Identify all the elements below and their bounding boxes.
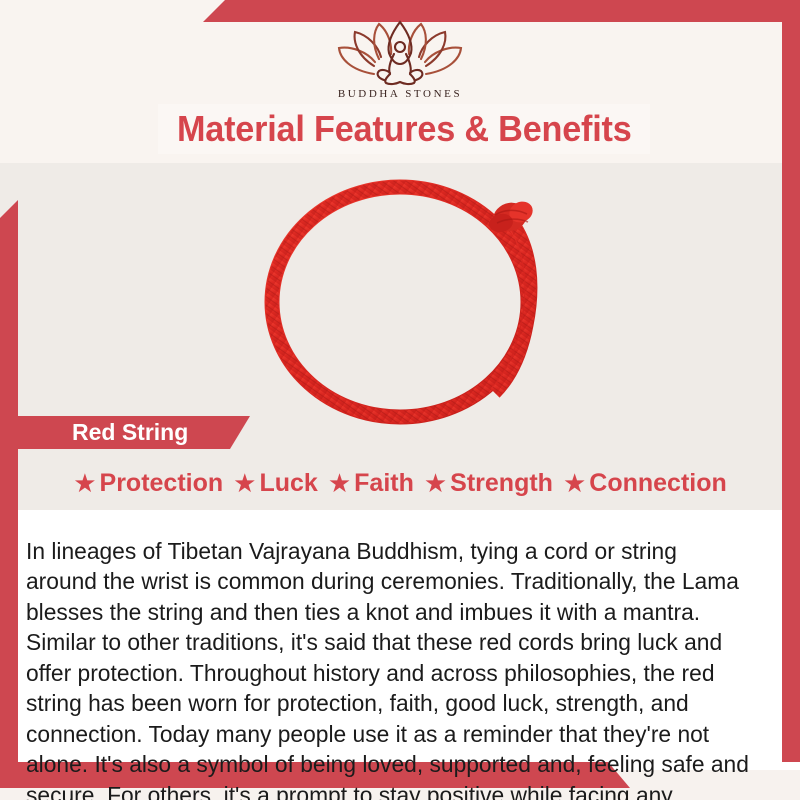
logo-head-icon: [395, 42, 405, 52]
feature-item-strength: ★ Strength: [424, 469, 553, 498]
feature-label: Protection: [100, 469, 224, 498]
lotus-meditation-icon: [334, 14, 466, 86]
decorative-right-bar: [782, 0, 800, 762]
page-title: Material Features & Benefits: [177, 108, 632, 150]
brand-logo: BUDDHA STONES: [0, 14, 800, 100]
infographic-card: BUDDHA STONES Material Features & Benefi…: [0, 0, 800, 800]
star-icon: ★: [563, 470, 586, 496]
feature-item-connection: ★ Connection: [563, 469, 727, 498]
feature-label: Faith: [354, 469, 414, 498]
description-paragraph: In lineages of Tibetan Vajrayana Buddhis…: [26, 536, 752, 800]
brand-name: BUDDHA STONES: [0, 88, 800, 100]
product-label-band: Red String: [18, 416, 250, 449]
star-icon: ★: [328, 470, 351, 496]
star-icon: ★: [233, 470, 256, 496]
feature-item-faith: ★ Faith: [328, 469, 414, 498]
decorative-left-bar: [0, 200, 18, 788]
feature-item-protection: ★ Protection: [73, 469, 223, 498]
star-icon: ★: [73, 470, 96, 496]
red-string-bracelet-photo: [255, 165, 565, 430]
feature-label: Connection: [589, 469, 727, 498]
feature-label: Strength: [450, 469, 553, 498]
feature-label: Luck: [259, 469, 317, 498]
star-icon: ★: [424, 470, 447, 496]
feature-list: ★ Protection ★ Luck ★ Faith ★ Strength ★…: [20, 466, 780, 500]
feature-item-luck: ★ Luck: [233, 469, 318, 498]
title-banner: Material Features & Benefits: [158, 104, 650, 154]
product-label: Red String: [72, 419, 188, 446]
